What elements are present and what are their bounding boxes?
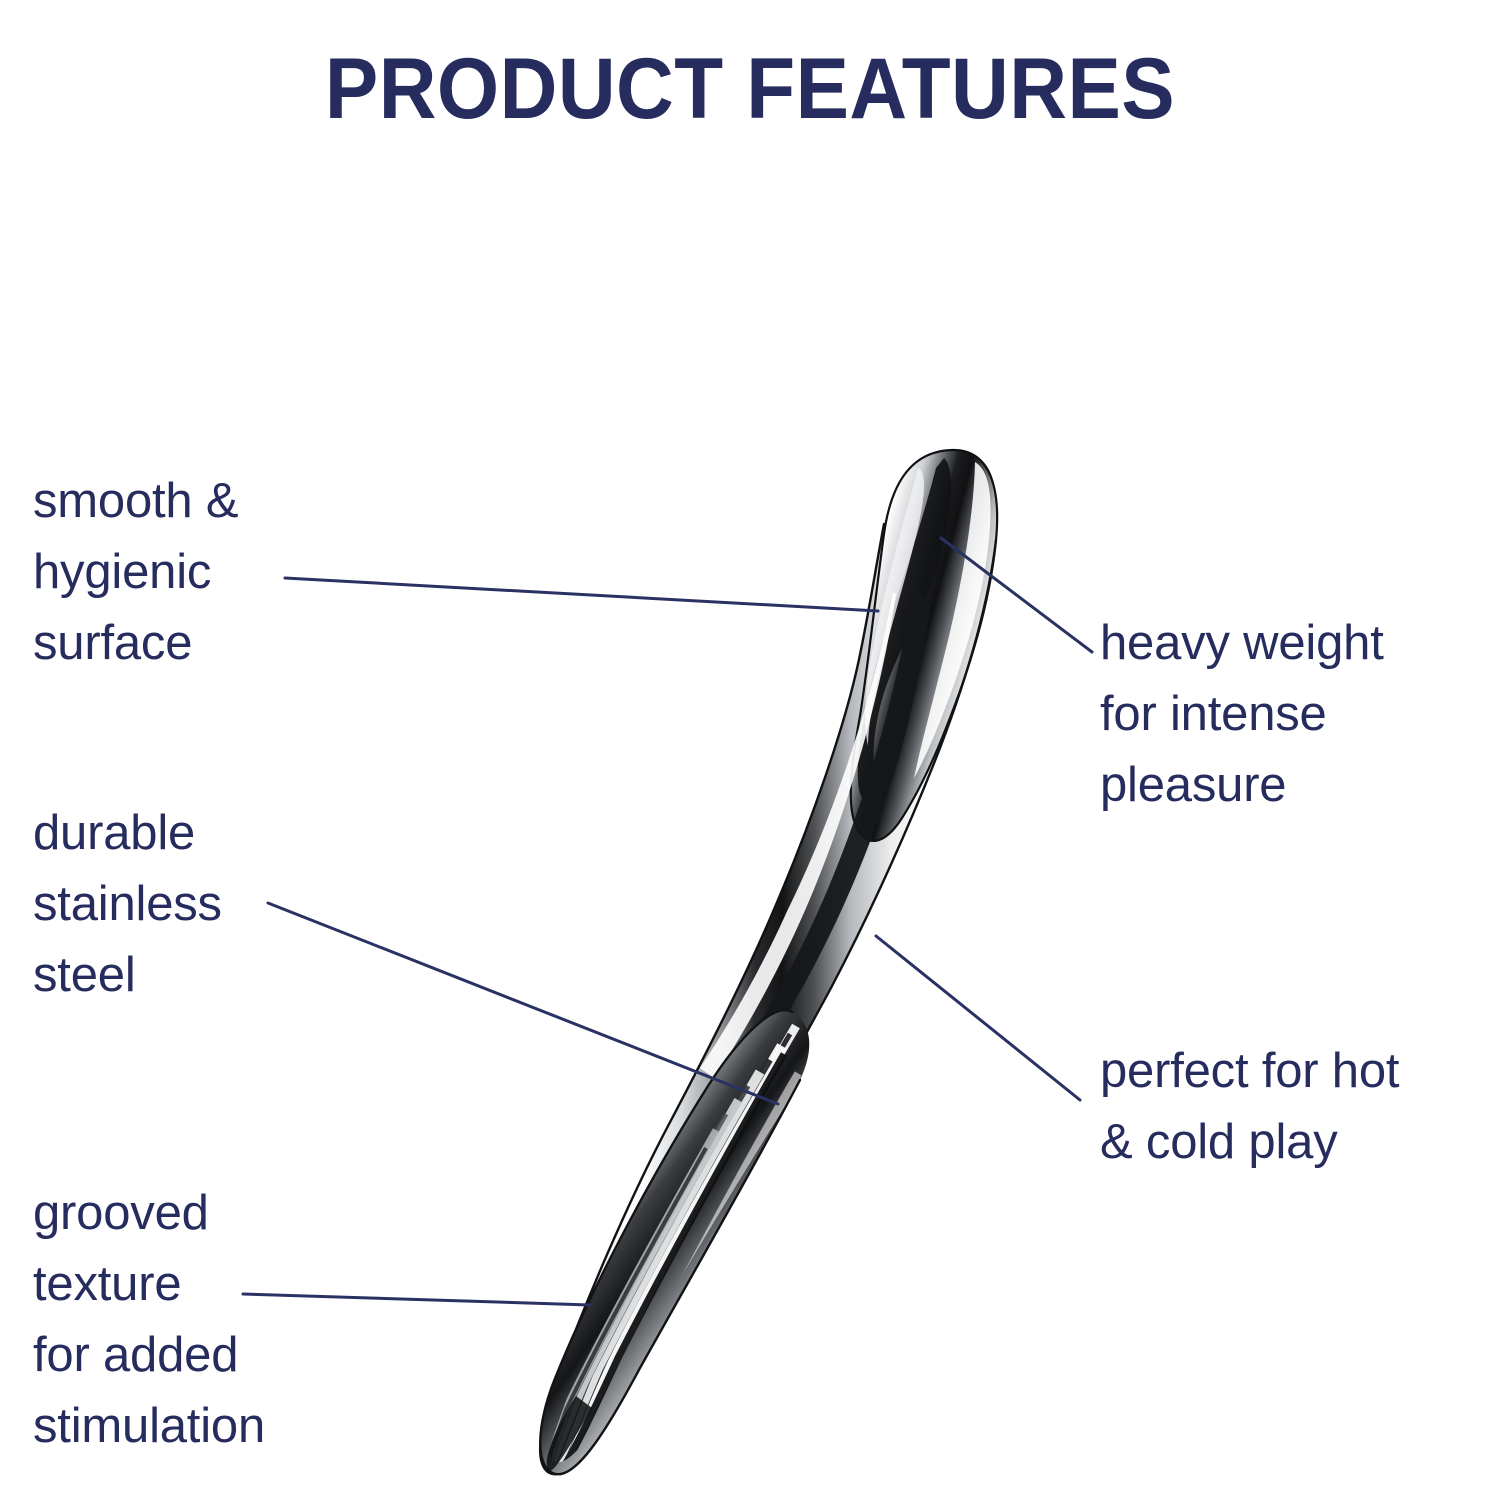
- groove-ridges: [545, 1026, 806, 1478]
- callout-label-heavy-weight: heavy weight for intense pleasure: [1100, 608, 1384, 821]
- tail-end-cap-shadow: [547, 1396, 592, 1471]
- shaft-outline-left: [540, 524, 884, 1472]
- shaft-dark-band: [720, 590, 932, 1100]
- leader-line-perfect: [876, 936, 1080, 1100]
- head-outline: [851, 450, 997, 841]
- product-grooved-tail: [540, 1010, 809, 1474]
- product-head-bulb: [851, 450, 997, 841]
- shaft-mid-band: [686, 582, 864, 1044]
- head-specular-valley: [858, 458, 952, 801]
- product-silhouette: [540, 452, 997, 1474]
- head-left-highlight: [865, 468, 924, 746]
- tail-outline: [540, 1010, 800, 1474]
- shaft-outline-right: [548, 540, 996, 1474]
- callout-label-durable-stainless-steel: durable stainless steel: [33, 798, 222, 1011]
- leader-line-heavy: [941, 538, 1092, 652]
- leader-line-durable: [268, 903, 778, 1104]
- page-title: PRODUCT FEATURES: [53, 46, 1448, 132]
- callout-label-smooth-hygienic-surface: smooth & hygienic surface: [33, 466, 238, 679]
- head-rim-highlight: [914, 462, 991, 778]
- product-illustration: [540, 450, 997, 1478]
- product-features-page: PRODUCT FEATURES: [0, 0, 1500, 1500]
- leader-line-smooth: [285, 578, 878, 611]
- leader-line-grooved: [243, 1294, 590, 1305]
- leader-lines: [243, 538, 1092, 1305]
- callout-label-hot-cold-play: perfect for hot & cold play: [1100, 1036, 1399, 1178]
- shaft-specular-group: [686, 582, 932, 1100]
- callout-label-grooved-texture: grooved texture for added stimulation: [33, 1178, 265, 1462]
- shaft-bright-band: [700, 586, 896, 1078]
